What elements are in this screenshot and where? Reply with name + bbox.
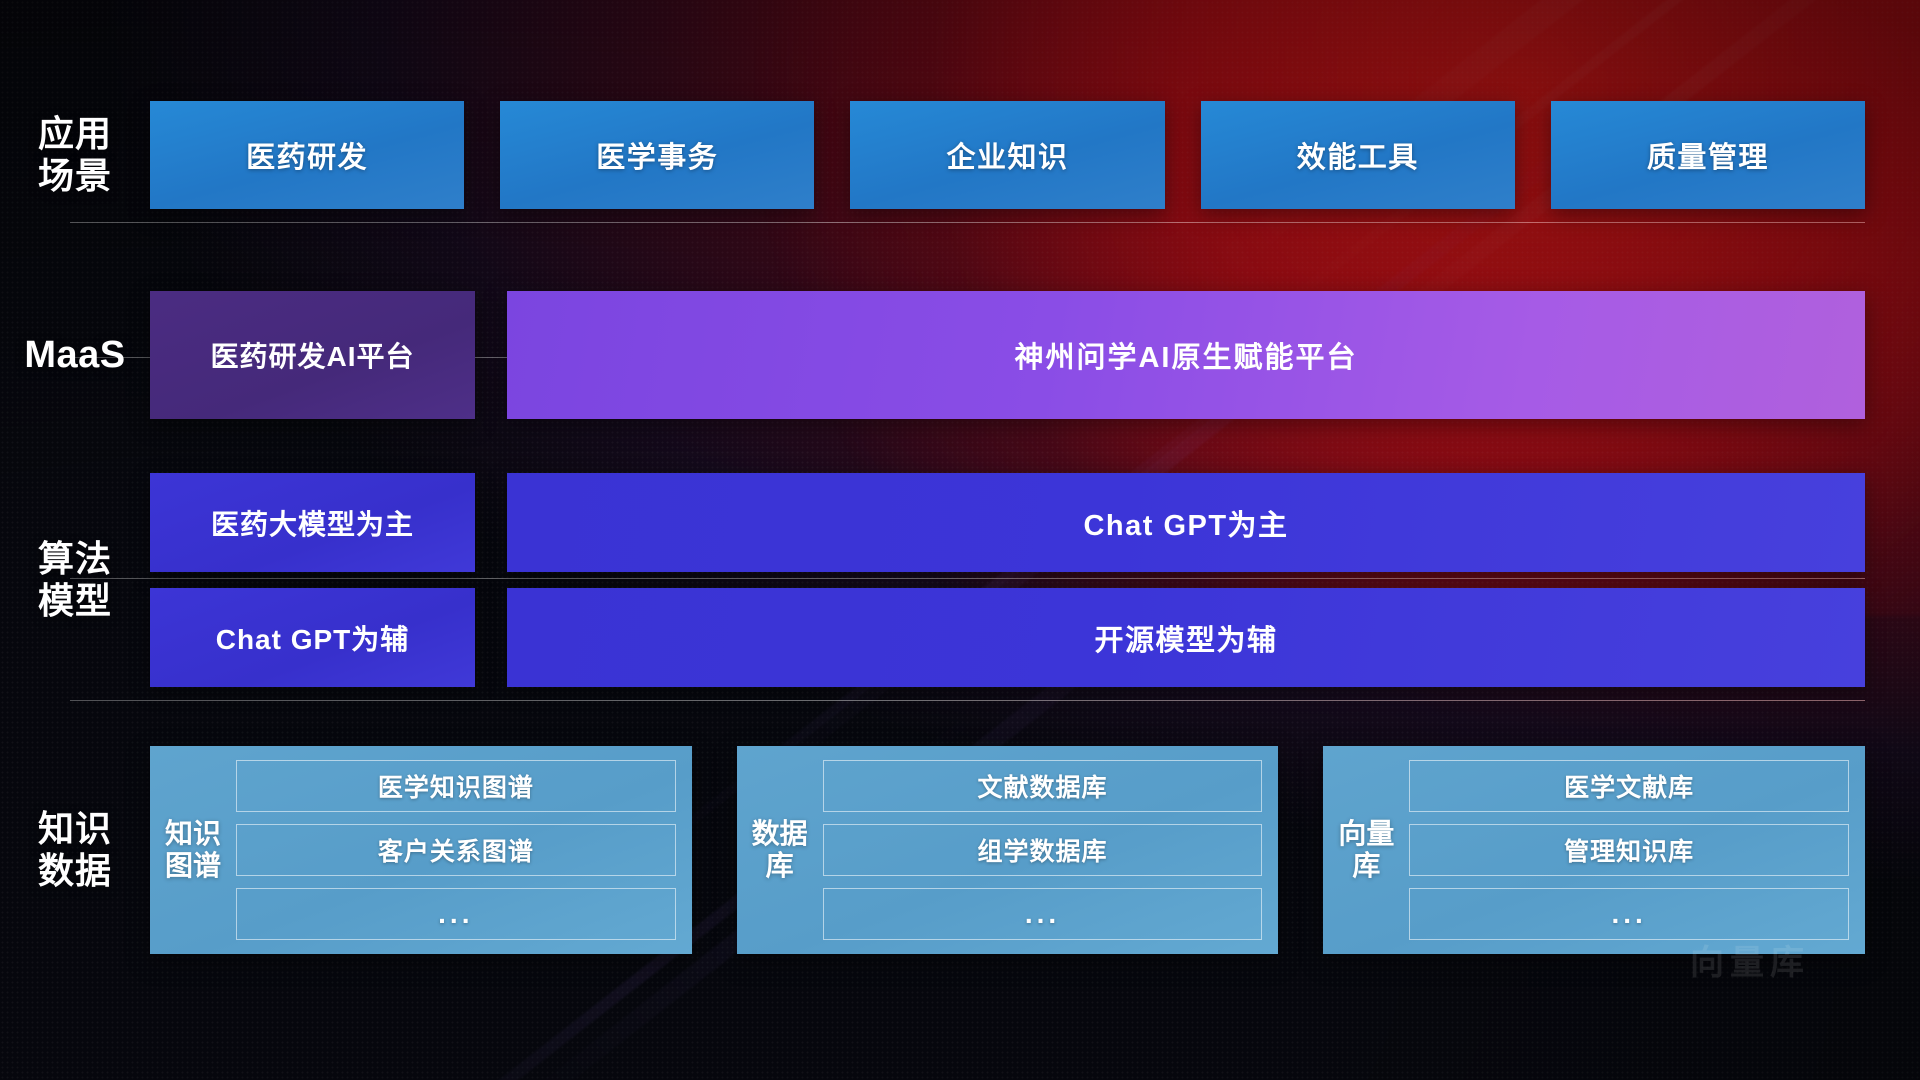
app-card-efficiency-tools[interactable]: 效能工具: [1201, 101, 1515, 209]
panel-item-customer-relation-graph[interactable]: 客户关系图谱: [236, 824, 676, 876]
tier-label-applications-line2: 场景: [0, 155, 150, 197]
maas-block-drug-rd-ai-platform[interactable]: 医药研发AI平台: [150, 291, 475, 419]
app-card-enterprise-knowledge[interactable]: 企业知识: [850, 101, 1164, 209]
algorithm-block-group: 医药大模型为主 Chat GPT为主 Chat GPT为辅 开源模型为辅: [150, 473, 1920, 687]
algo-block-opensource-secondary[interactable]: 开源模型为辅: [507, 588, 1865, 687]
panel-item-medical-literature-store[interactable]: 医学文献库: [1409, 760, 1849, 812]
tier-label-knowledge-line2: 数据: [0, 850, 150, 892]
panel-item-management-knowledge-store[interactable]: 管理知识库: [1409, 824, 1849, 876]
knowledge-panel-knowledge-graph: 知识图谱 医学知识图谱 客户关系图谱 ...: [150, 746, 692, 954]
tier-applications: 应用 场景 医药研发 医学事务 企业知识 效能工具 质量管理: [0, 100, 1920, 210]
maas-block-shenzhou-wenxue-platform[interactable]: 神州问学AI原生赋能平台: [507, 291, 1865, 419]
panel-items-knowledge-graph: 医学知识图谱 客户关系图谱 ...: [236, 760, 676, 940]
panel-item-omics-database[interactable]: 组学数据库: [823, 824, 1263, 876]
panel-title-vector-store: 向量库: [1337, 760, 1395, 940]
app-card-quality-management[interactable]: 质量管理: [1551, 101, 1865, 209]
panel-title-database: 数据库: [751, 760, 809, 940]
tier-label-applications-line1: 应用: [0, 113, 150, 155]
panel-item-medical-knowledge-graph[interactable]: 医学知识图谱: [236, 760, 676, 812]
panel-item-database-more[interactable]: ...: [823, 888, 1263, 940]
algo-block-pharma-llm-primary[interactable]: 医药大模型为主: [150, 473, 475, 572]
divider-knowledge: [70, 700, 1865, 701]
panel-item-vector-store-more[interactable]: ...: [1409, 888, 1849, 940]
panel-items-database: 文献数据库 组学数据库 ...: [823, 760, 1263, 940]
tier-label-applications: 应用 场景: [0, 113, 150, 198]
tier-label-algorithm: 算法 模型: [0, 538, 150, 623]
panel-items-vector-store: 医学文献库 管理知识库 ...: [1409, 760, 1849, 940]
panel-title-knowledge-graph: 知识图谱: [164, 760, 222, 940]
divider-applications: [70, 222, 1865, 223]
tier-label-knowledge-line1: 知识: [0, 808, 150, 850]
panel-item-knowledge-graph-more[interactable]: ...: [236, 888, 676, 940]
app-card-drug-rd[interactable]: 医药研发: [150, 101, 464, 209]
tier-knowledge-data: 知识 数据 知识图谱 医学知识图谱 客户关系图谱 ... 数据库 文献数据库 组…: [0, 725, 1920, 975]
maas-block-group: 医药研发AI平台 神州问学AI原生赋能平台: [150, 291, 1920, 419]
tier-label-algorithm-line2: 模型: [0, 580, 150, 622]
architecture-diagram: 应用 场景 医药研发 医学事务 企业知识 效能工具 质量管理 MaaS 医药研发…: [0, 0, 1920, 1080]
algorithm-row-secondary: Chat GPT为辅 开源模型为辅: [150, 588, 1865, 687]
knowledge-panel-database: 数据库 文献数据库 组学数据库 ...: [737, 746, 1279, 954]
tier-label-maas: MaaS: [0, 333, 150, 378]
applications-card-group: 医药研发 医学事务 企业知识 效能工具 质量管理: [150, 101, 1920, 209]
algo-block-chatgpt-primary[interactable]: Chat GPT为主: [507, 473, 1865, 572]
tier-label-knowledge: 知识 数据: [0, 808, 150, 893]
knowledge-panel-vector-store: 向量库 医学文献库 管理知识库 ...: [1323, 746, 1865, 954]
algorithm-row-primary: 医药大模型为主 Chat GPT为主: [150, 473, 1865, 572]
tier-algorithm-models: 算法 模型 医药大模型为主 Chat GPT为主 Chat GPT为辅 开源模型…: [0, 465, 1920, 695]
app-card-medical-affairs[interactable]: 医学事务: [500, 101, 814, 209]
tier-label-algorithm-line1: 算法: [0, 538, 150, 580]
knowledge-panel-group: 知识图谱 医学知识图谱 客户关系图谱 ... 数据库 文献数据库 组学数据库 .…: [150, 746, 1920, 954]
algo-block-chatgpt-secondary[interactable]: Chat GPT为辅: [150, 588, 475, 687]
panel-item-literature-database[interactable]: 文献数据库: [823, 760, 1263, 812]
tier-maas: MaaS 医药研发AI平台 神州问学AI原生赋能平台: [0, 290, 1920, 420]
